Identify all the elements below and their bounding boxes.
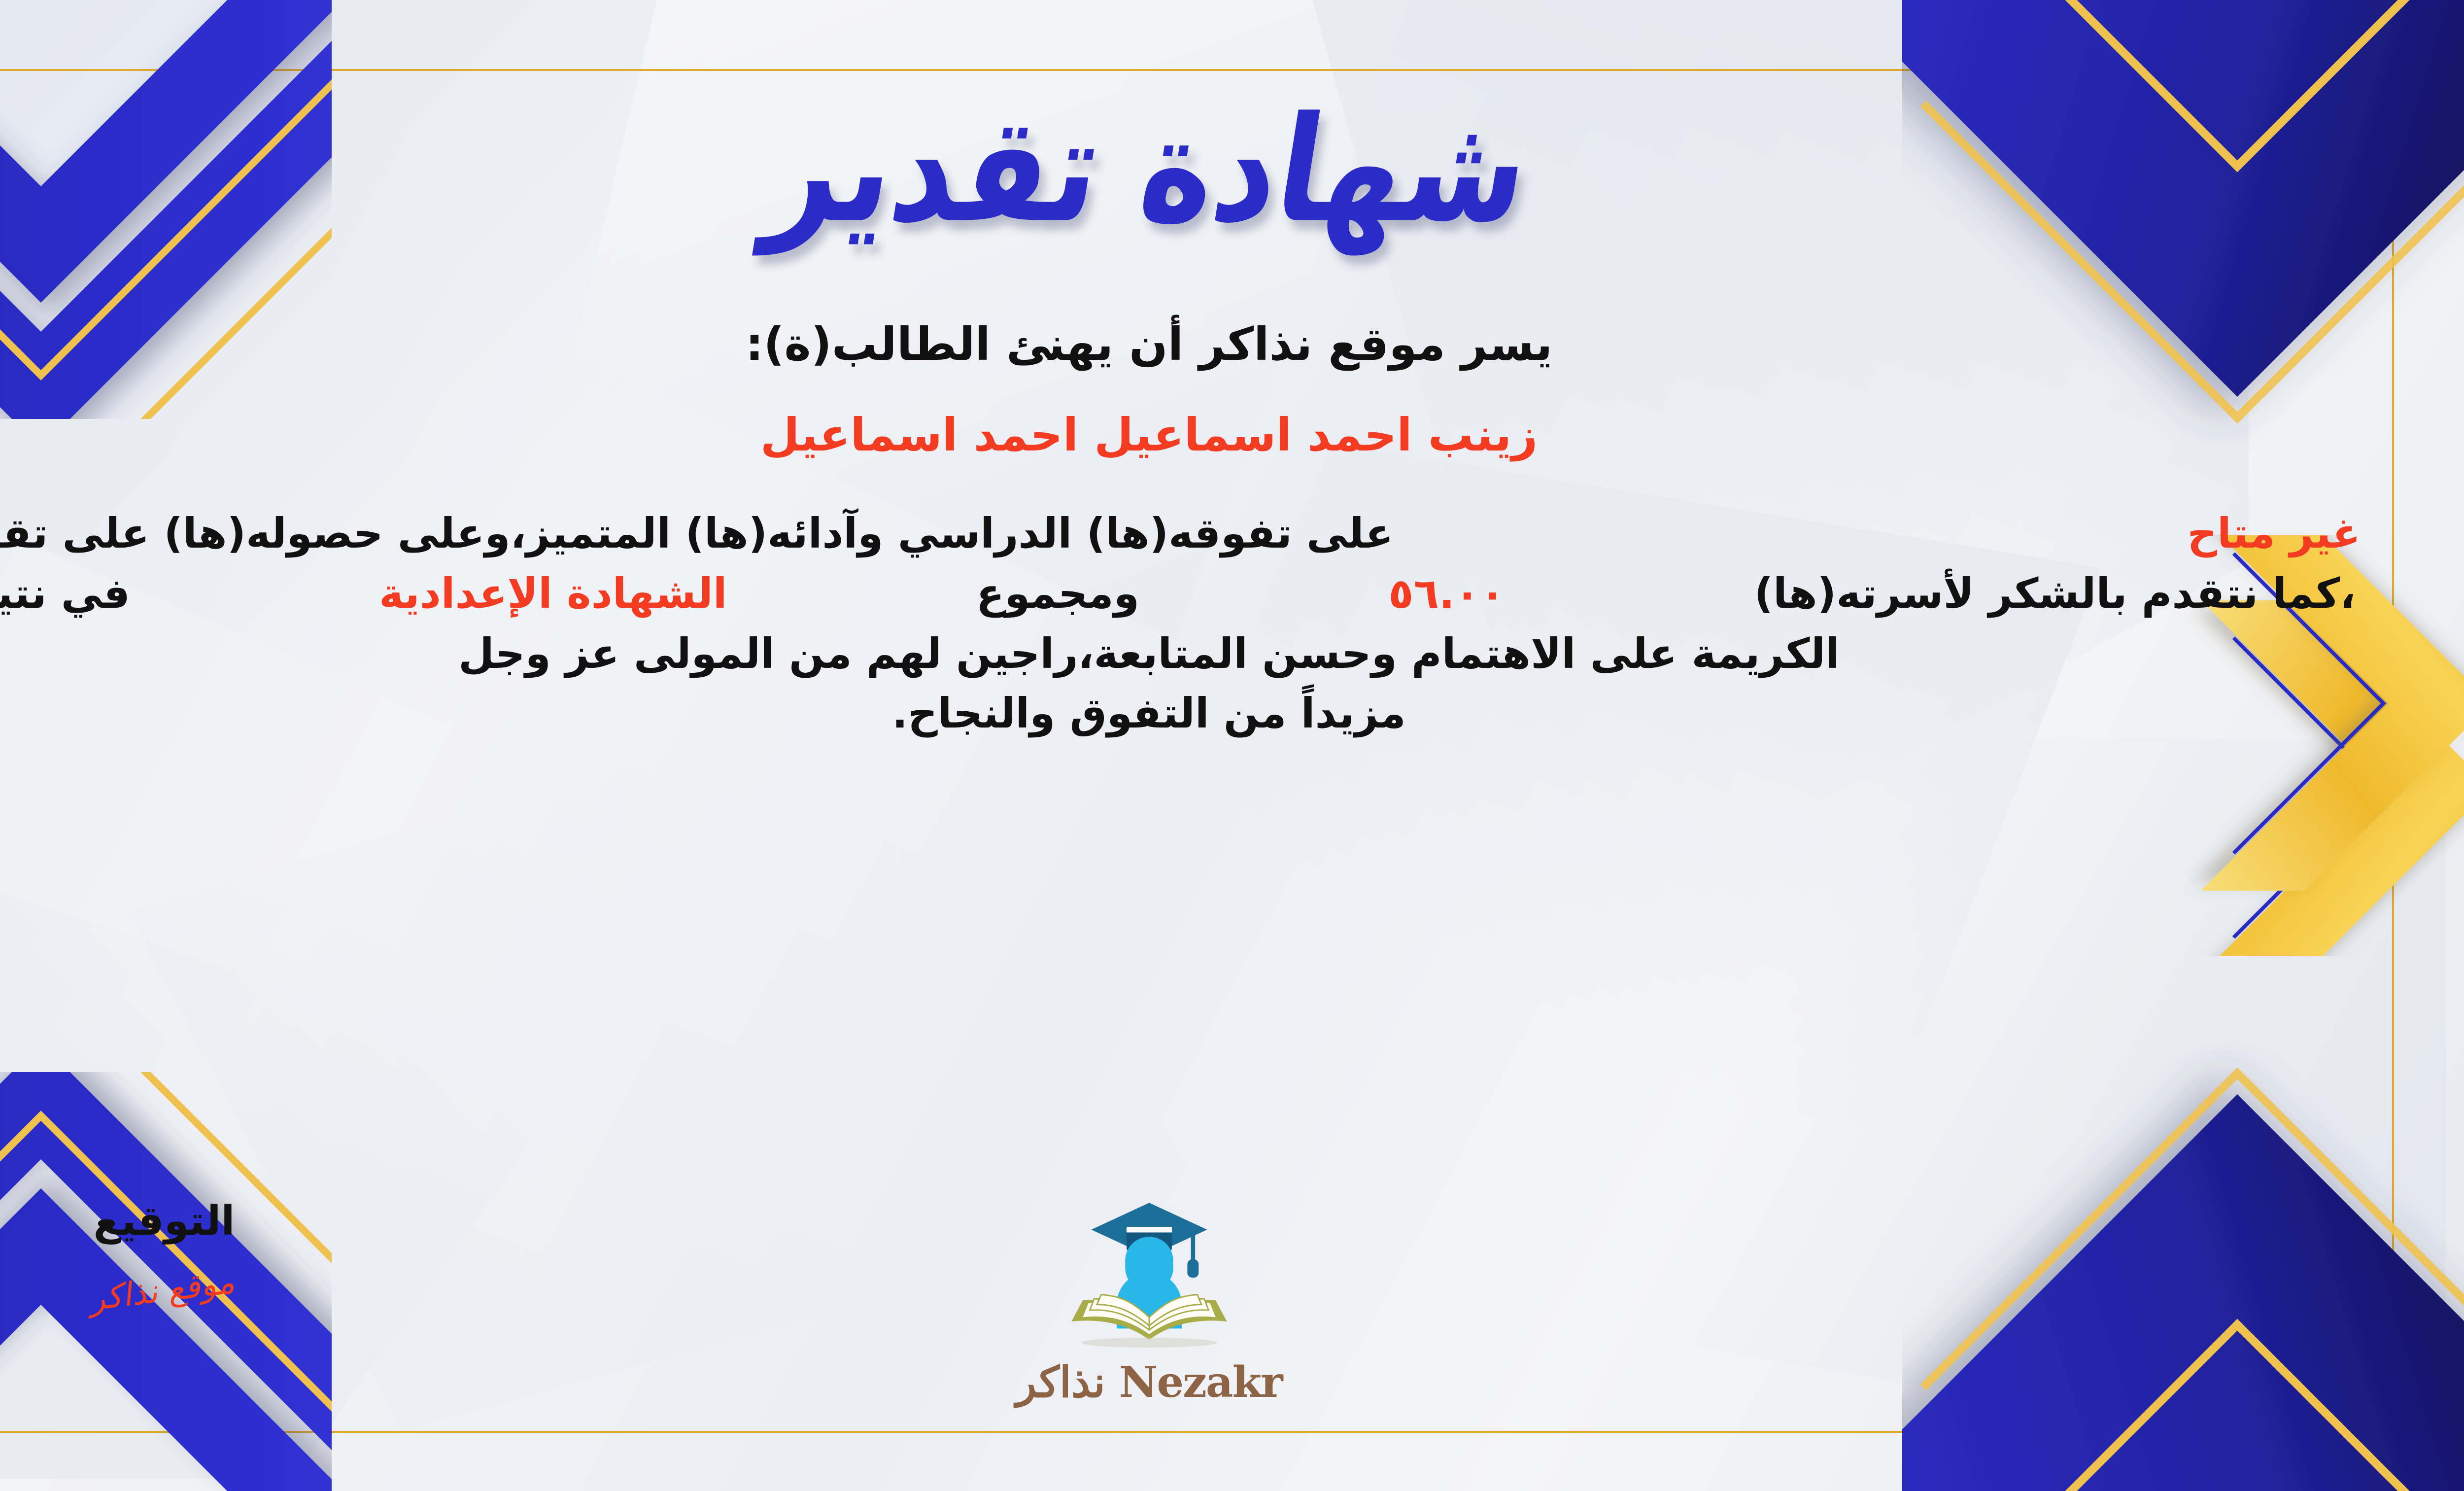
total-value: ٥٦.٠٠ [1388, 564, 1505, 624]
total-label: ومجموع [976, 564, 1139, 624]
certificate-title: شهادة تقدير [759, 98, 1539, 243]
body-paragraph: غير متاح على تفوقه(ها) الدراسي وآدائه(ها… [0, 504, 2365, 744]
signature-handwriting: موقع نذاكر [90, 1262, 239, 1318]
body-line-2: ،كما نتقدم بالشكر لأسرته(ها) ٥٦.٠٠ ومجمو… [0, 564, 2365, 624]
logo-wordmark: Nezakr نذاكر [1016, 1357, 1282, 1407]
certificate-title-wrap: شهادة تقدير [771, 89, 1527, 251]
site-logo[interactable]: Nezakr نذاكر [1016, 1193, 1282, 1407]
signature-label: التوقيع [94, 1198, 235, 1245]
student-name: زينب احمد اسماعيل احمد اسماعيل [760, 401, 1538, 469]
body-line-3: الكريمة على الاهتمام وحسن المتابعة،راجين… [0, 624, 2365, 684]
certificate-content: شهادة تقدير يسر موقع نذاكر أن يهنئ الطال… [0, 74, 2365, 1427]
graduate-book-logo-icon [1043, 1193, 1255, 1355]
result-prefix: في نتيجة [0, 564, 130, 624]
thanks-family-text: ،كما نتقدم بالشكر لأسرته(ها) [1754, 564, 2356, 624]
certificate-canvas: شهادة تقدير يسر موقع نذاكر أن يهنئ الطال… [0, 0, 2464, 1491]
certificate-footer: Nezakr نذاكر التوقيع موقع نذاكر [0, 1198, 2365, 1407]
body-line-1-text: على تفوقه(ها) الدراسي وآدائه(ها) المتميز… [0, 504, 1394, 564]
body-line-4: مزيداً من التفوق والنجاح. [0, 684, 2365, 744]
congratulation-line: يسر موقع نذاكر أن يهنئ الطالب(ة): [746, 311, 1553, 379]
exam-name: الشهادة الإعدادية [379, 564, 727, 624]
signature-block: التوقيع موقع نذاكر [11, 1198, 317, 1309]
body-line-1: غير متاح على تفوقه(ها) الدراسي وآدائه(ها… [0, 504, 2365, 564]
grade-value: غير متاح [2187, 504, 2361, 564]
